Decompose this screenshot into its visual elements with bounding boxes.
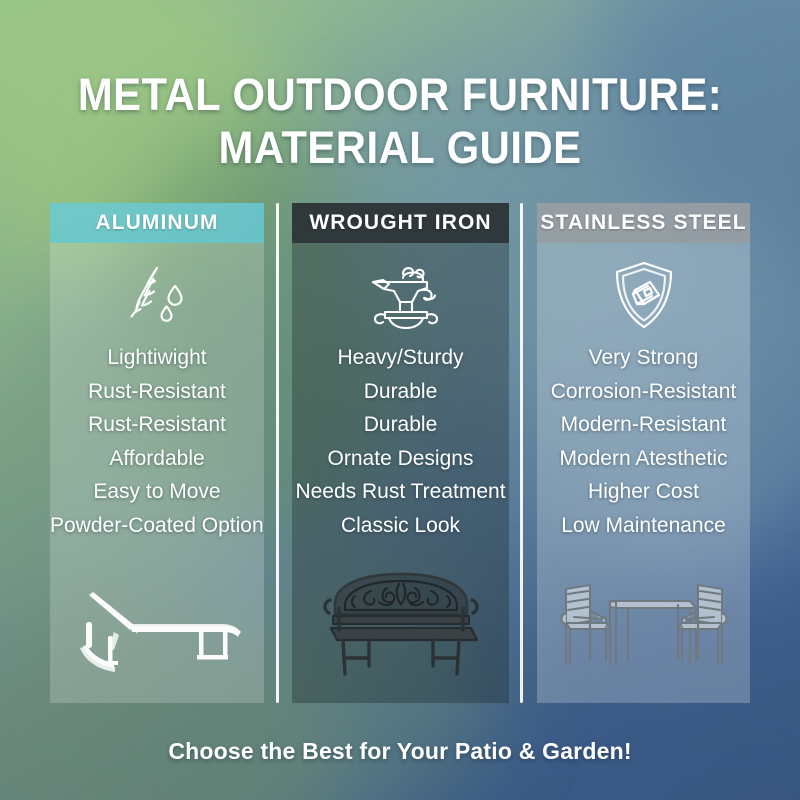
- card-header-stainless-steel: STAINLESS STEEL: [537, 203, 750, 243]
- list-item: Very Strong: [537, 341, 750, 375]
- card-header-aluminum: ALUMINUM: [50, 203, 264, 243]
- patio-dining-set-icon: [537, 547, 750, 697]
- footer-tagline: Choose the Best for Your Patio & Garden!: [0, 738, 800, 765]
- list-item: Rust-Resistant: [50, 375, 264, 409]
- page-title-line-1: METAL OUTDOOR FURNITURE:: [28, 68, 772, 121]
- column-divider: [520, 203, 523, 703]
- feature-list-aluminum: Lightiwight Rust-Resistant Rust-Resistan…: [50, 341, 264, 542]
- anvil-icon: [359, 249, 443, 341]
- material-card-stainless-steel[interactable]: STAINLESS STEEL Very Strong Co: [537, 203, 750, 703]
- list-item: Lightiwight: [50, 341, 264, 375]
- list-item: Modern-Resistant: [537, 408, 750, 442]
- list-item: Classic Look: [292, 509, 509, 543]
- list-item: Higher Cost: [537, 475, 750, 509]
- feature-list-stainless-steel: Very Strong Corrosion-Resistant Modern-R…: [537, 341, 750, 542]
- material-card-wrought-iron[interactable]: WROUGHT IRON: [292, 203, 509, 703]
- column-divider: [276, 203, 279, 703]
- list-item: Ornate Designs: [292, 442, 509, 476]
- list-item: Affordable: [50, 442, 264, 476]
- list-item: Needs Rust Treatment: [292, 475, 509, 509]
- card-header-wrought-iron: WROUGHT IRON: [292, 203, 509, 243]
- list-item: Rust-Resistant: [50, 408, 264, 442]
- list-item: Modern Atesthetic: [537, 442, 750, 476]
- list-item: Corrosion-Resistant: [537, 375, 750, 409]
- feather-water-drop-icon: [120, 249, 194, 341]
- list-item: Durable: [292, 375, 509, 409]
- feature-list-wrought-iron: Heavy/Sturdy Durable Durable Ornate Desi…: [292, 341, 509, 542]
- list-item: Easy to Move: [50, 475, 264, 509]
- list-item: Durable: [292, 408, 509, 442]
- list-item: Powder-Coated Options: [50, 509, 264, 543]
- list-item: Heavy/Sturdy: [292, 341, 509, 375]
- chaise-lounge-chair-icon: [50, 547, 264, 697]
- list-item: Low Maintenance: [537, 509, 750, 543]
- material-columns: ALUMINUM Lightiwight: [50, 203, 750, 703]
- page-title: METAL OUTDOOR FURNITURE: MATERIAL GUIDE: [28, 68, 772, 174]
- shield-plate-icon: [608, 249, 680, 341]
- page-title-line-2: MATERIAL GUIDE: [28, 121, 772, 174]
- infographic-canvas: METAL OUTDOOR FURNITURE: MATERIAL GUIDE …: [0, 0, 800, 800]
- ornate-garden-bench-icon: [292, 547, 509, 697]
- material-card-aluminum[interactable]: ALUMINUM Lightiwight: [50, 203, 264, 703]
